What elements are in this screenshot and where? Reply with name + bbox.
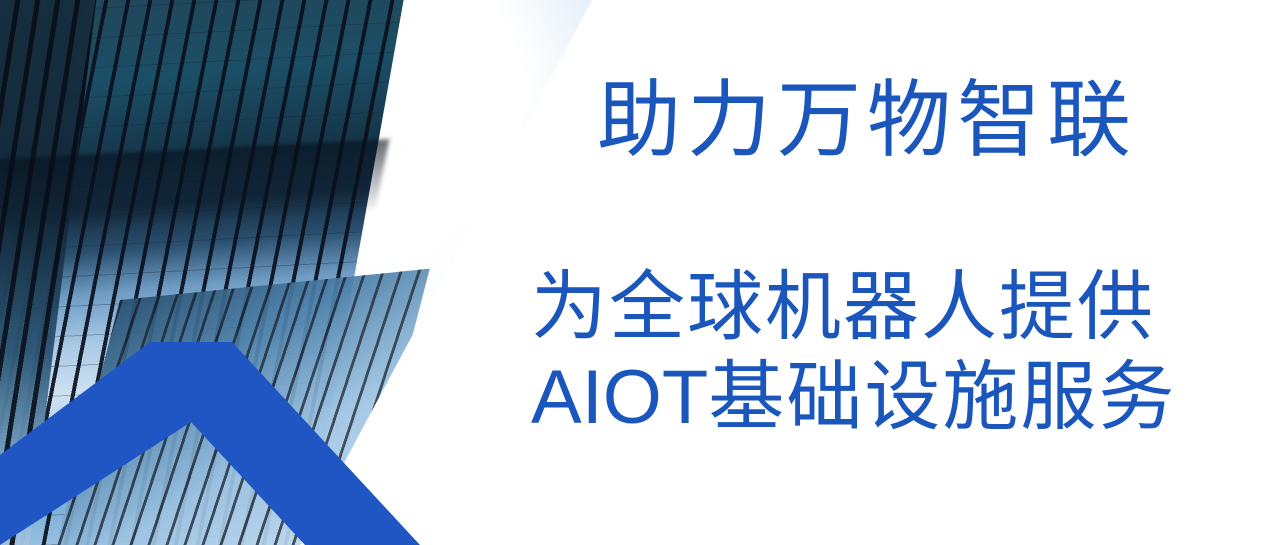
subtitle-line-2-cjk: 基础设施服务 (708, 352, 1176, 441)
promo-banner: 助力万物智联 为全球机器人提供 AIOT基础设施服务 (0, 0, 1280, 545)
subtitle-line-1: 为全球机器人提供 (531, 262, 1176, 352)
subtitle-line-2-latin: AIOT (531, 355, 708, 440)
page-title: 助力万物智联 (597, 78, 1137, 162)
copy-block: 助力万物智联 为全球机器人提供 AIOT基础设施服务 (505, 0, 1245, 545)
subtitle-line-2: AIOT基础设施服务 (531, 352, 1176, 443)
subtitle: 为全球机器人提供 AIOT基础设施服务 (531, 262, 1176, 442)
